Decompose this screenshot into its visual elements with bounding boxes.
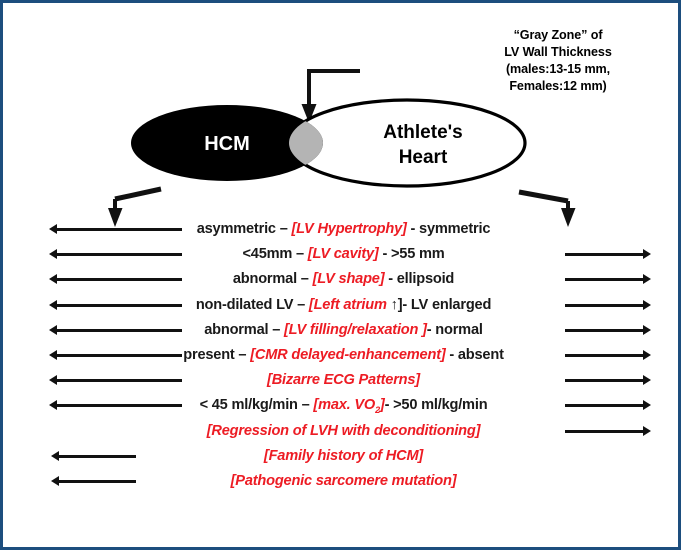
comparison-row: [Regression of LVH with deconditioning] [3,419,681,444]
row-parameter: [Pathogenic sarcomere mutation] [231,473,457,489]
row-text: [Pathogenic sarcomere mutation] [3,469,681,494]
row-parameter: [Regression of LVH with deconditioning] [207,423,481,439]
row-parameter: [Bizarre ECG Patterns] [267,372,420,388]
row-right-value: - >55 mm [379,246,445,262]
row-left-value: non-dilated LV – [196,297,309,313]
row-right-value: - absent [446,347,504,363]
comparison-row: abnormal – [LV shape] - ellipsoid [3,267,681,292]
row-right-value: - LV enlarged [402,297,491,313]
row-parameter: [LV filling/relaxation ] [284,322,427,338]
comparison-row: abnormal – [LV filling/relaxation ]- nor… [3,318,681,343]
row-parameter: [Family history of HCM] [264,448,423,464]
row-text: [Family history of HCM] [3,444,681,469]
comparison-row: asymmetric – [LV Hypertrophy] - symmetri… [3,217,681,242]
comparison-row: present – [CMR delayed-enhancement] - ab… [3,343,681,368]
row-left-value: abnormal – [233,271,313,287]
row-right-value: - symmetric [407,221,491,237]
row-left-value: < 45 ml/kg/min – [200,397,314,413]
row-parameter: [LV shape] [313,271,385,287]
row-right-value: - normal [427,322,483,338]
row-parameter: [LV Hypertrophy] [291,221,406,237]
row-text: [Regression of LVH with deconditioning] [3,419,681,444]
comparison-row: [Bizarre ECG Patterns] [3,368,681,393]
comparison-row: [Pathogenic sarcomere mutation] [3,469,681,494]
row-text: [Bizarre ECG Patterns] [3,368,681,393]
row-right-value: - ellipsoid [384,271,454,287]
row-parameter-suffix: ↑] [391,297,403,313]
row-text: non-dilated LV – [Left atrium ↑]- LV enl… [3,293,681,318]
row-parameter: [max. VO2] [313,397,384,413]
diagram-frame: “Gray Zone” of LV Wall Thickness (males:… [0,0,681,550]
row-text: <45mm – [LV cavity] - >55 mm [3,242,681,267]
comparison-rows: asymmetric – [LV Hypertrophy] - symmetri… [3,217,681,494]
row-parameter: [CMR delayed-enhancement] [250,347,445,363]
row-left-value: asymmetric – [197,221,292,237]
athletes-heart-ellipse [289,100,525,186]
comparison-row: < 45 ml/kg/min – [max. VO2]- >50 ml/kg/m… [3,393,681,418]
row-parameter: [LV cavity] [308,246,379,262]
athletes-heart-label-line2: Heart [399,147,448,168]
row-text: asymmetric – [LV Hypertrophy] - symmetri… [3,217,681,242]
comparison-row: <45mm – [LV cavity] - >55 mm [3,242,681,267]
row-text: present – [CMR delayed-enhancement] - ab… [3,343,681,368]
row-text: abnormal – [LV filling/relaxation ]- nor… [3,318,681,343]
row-left-value: abnormal – [204,322,284,338]
row-left-value: <45mm – [242,246,307,262]
hcm-label: HCM [204,133,250,155]
comparison-row: non-dilated LV – [Left atrium ↑]- LV enl… [3,293,681,318]
comparison-row: [Family history of HCM] [3,444,681,469]
venn-diagram: HCM Athlete's Heart [3,91,681,201]
athletes-heart-label-line1: Athlete's [383,122,462,143]
row-parameter: [Left atrium [309,297,391,313]
row-left-value: present – [183,347,250,363]
row-right-value: - >50 ml/kg/min [385,397,488,413]
row-text: abnormal – [LV shape] - ellipsoid [3,267,681,292]
